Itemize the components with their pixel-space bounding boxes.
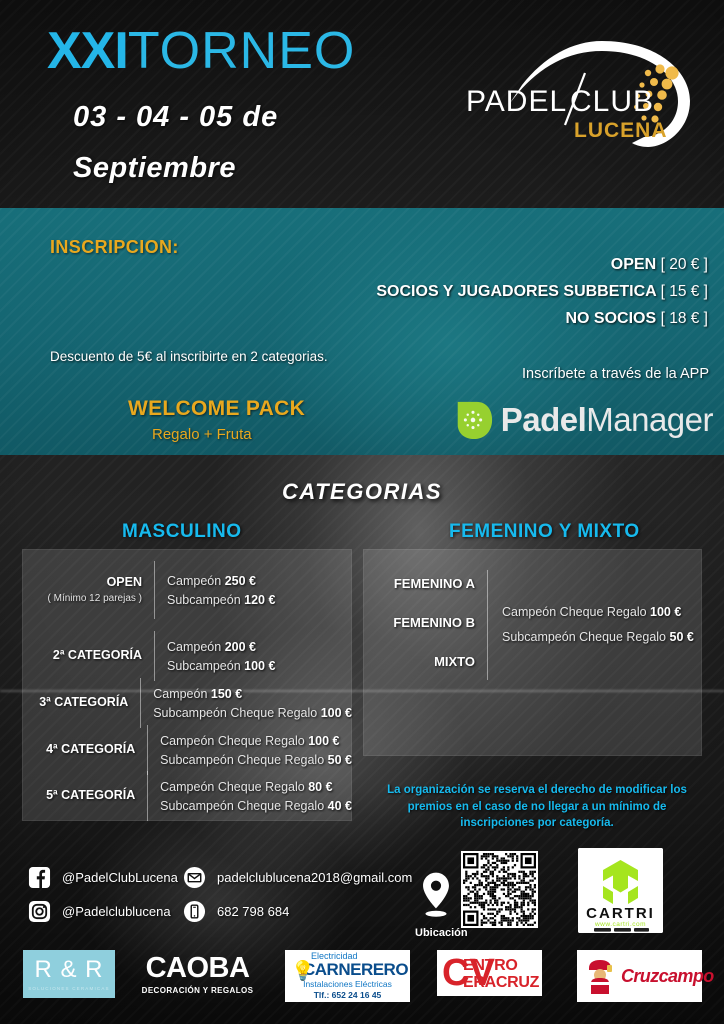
- poster-header: XXITORNEO 03 - 04 - 05 de Septiembre PAD…: [0, 0, 724, 208]
- prize-value: 40 €: [328, 799, 352, 813]
- price-row-open: OPEN [ 20 € ]: [376, 256, 708, 274]
- prize-line: Campeón 250 €: [167, 574, 352, 588]
- event-dates: 03 - 04 - 05 de: [73, 101, 278, 134]
- padelmanager-logo[interactable]: PadelManager: [452, 398, 713, 442]
- prize-line: Campeón 150 €: [153, 687, 352, 701]
- sponsor-caoba-tagline: DECORACIÓN Y REGALOS: [142, 986, 254, 995]
- prize-label: Subcampeón Cheque Regalo: [153, 706, 317, 720]
- cruzcampo-mascot-icon: [583, 956, 617, 996]
- masculino-category-label: 3ª CATEGORÍA: [22, 695, 140, 711]
- prize-label: Subcampeón: [167, 659, 241, 673]
- table-row: 3ª CATEGORÍA Campeón 150 € Subcampeón Ch…: [22, 678, 352, 728]
- qr-code[interactable]: [461, 851, 538, 928]
- sponsor-centro-veracruz[interactable]: CV ENTRO ERACRUZ: [437, 950, 542, 996]
- prize-value: 100 €: [321, 706, 352, 720]
- padelmanager-wordmark: PadelManager: [501, 401, 713, 439]
- sponsor-ryr-name: R & R: [34, 958, 103, 982]
- location-pin-icon: [415, 906, 457, 923]
- sponsor-caoba[interactable]: CAOBA DECORACIÓN Y REGALOS: [140, 950, 255, 998]
- femenino-prize-group: Campeón Cheque Regalo 100 € Subcampeón C…: [488, 560, 702, 693]
- category-note: ( Mínimo 12 parejas ): [22, 593, 142, 606]
- phone-number: 682 798 684: [217, 904, 289, 919]
- location-block[interactable]: Ubicación: [415, 870, 457, 939]
- prize-label: Subcampeón: [167, 593, 241, 607]
- lightbulb-icon: 💡: [291, 959, 315, 983]
- location-label: Ubicación: [415, 927, 457, 939]
- sponsor-carnerero-name: CARNERERO: [303, 961, 408, 979]
- prize-value: 80 €: [308, 780, 332, 794]
- masculino-category-label: 4ª CATEGORÍA: [22, 742, 147, 758]
- list-item: FEMENINO A: [363, 576, 487, 591]
- prize-line: Subcampeón Cheque Regalo 50 €: [160, 753, 352, 767]
- category-name: 2ª CATEGORÍA: [53, 648, 142, 662]
- prize-group: Campeón Cheque Regalo 80 € Subcampeón Ch…: [148, 775, 352, 818]
- instagram-handle: @Padelclublucena: [62, 904, 171, 919]
- prize-label: Campeón Cheque Regalo: [160, 734, 305, 748]
- email-icon: [183, 866, 206, 889]
- sponsor-carnerero-line3: Instalaciones Eléctricas: [303, 979, 392, 990]
- prize-label: Subcampeón Cheque Regalo: [160, 799, 324, 813]
- categories-title: CATEGORIAS: [0, 479, 724, 505]
- femenino-table: FEMENINO A FEMENINO B MIXTO Campeón Cheq…: [363, 560, 702, 693]
- svg-text:PADEL: PADEL: [466, 85, 567, 118]
- prize-value: 200 €: [225, 640, 256, 654]
- prize-value: 100 €: [308, 734, 339, 748]
- masculino-category-label: OPEN ( Mínimo 12 parejas ): [22, 575, 154, 605]
- welcome-pack-subtitle: Regalo + Fruta: [152, 426, 252, 443]
- price-row-socios: SOCIOS Y JUGADORES SUBBETICA [ 15 € ]: [376, 283, 708, 301]
- prize-value: 50 €: [670, 630, 694, 644]
- sponsor-ryr[interactable]: R & R SOLUCIONES CERAMICAS: [23, 950, 115, 998]
- title-edition: XXI: [47, 22, 128, 80]
- prize-value: 50 €: [328, 753, 352, 767]
- svg-text:CARTRI: CARTRI: [586, 905, 655, 922]
- price-list: OPEN [ 20 € ] SOCIOS Y JUGADORES SUBBETI…: [376, 256, 708, 337]
- svg-text:www.cartri.com: www.cartri.com: [594, 921, 646, 928]
- contact-facebook[interactable]: @PadelClubLucena: [28, 866, 178, 889]
- prize-line: Campeón Cheque Regalo 80 €: [160, 780, 352, 794]
- svg-text:LUCENA: LUCENA: [574, 119, 668, 142]
- prize-label: Subcampeón Cheque Regalo: [160, 753, 324, 767]
- sponsor-strip: R & R SOLUCIONES CERAMICAS CAOBA DECORAC…: [0, 944, 724, 1024]
- cartri-sponsor-logo[interactable]: CARTRI www.cartri.com: [578, 848, 663, 933]
- app-signup-note: Inscríbete a través de la APP: [522, 366, 709, 382]
- prize-line: Subcampeón Cheque Regalo 40 €: [160, 799, 352, 813]
- prize-group: Campeón 250 € Subcampeón 120 €: [155, 569, 352, 612]
- facebook-handle: @PadelClubLucena: [62, 870, 178, 885]
- padelmanager-word-light: Manager: [586, 401, 713, 438]
- prize-label: Campeón Cheque Regalo: [502, 605, 647, 619]
- instagram-icon: [28, 900, 51, 923]
- page-title: XXITORNEO: [47, 25, 355, 77]
- prize-line: Subcampeón Cheque Regalo 100 €: [153, 706, 352, 720]
- price-name-no-socios: NO SOCIOS: [565, 310, 656, 327]
- contact-phone[interactable]: 682 798 684: [183, 900, 289, 923]
- prize-label: Campeón: [167, 640, 221, 654]
- prize-value: 100 €: [244, 659, 275, 673]
- prize-value: 250 €: [225, 574, 256, 588]
- price-amount-open: [ 20 € ]: [661, 256, 708, 273]
- inscription-heading: INSCRIPCION:: [50, 237, 179, 258]
- list-item: FEMENINO B: [363, 615, 487, 630]
- sponsor-cruzcampo[interactable]: Cruzcampo: [577, 950, 702, 1002]
- category-name: 4ª CATEGORÍA: [46, 742, 135, 756]
- prize-value: 120 €: [244, 593, 275, 607]
- prize-label: Campeón: [167, 574, 221, 588]
- table-row: 2ª CATEGORÍA Campeón 200 € Subcampeón 10…: [22, 631, 352, 681]
- sponsor-carnerero-phone: Tlf.: 652 24 16 45: [314, 990, 382, 1000]
- price-amount-socios: [ 15 € ]: [661, 283, 708, 300]
- prize-value: 150 €: [211, 687, 242, 701]
- category-name: 3ª CATEGORÍA: [39, 695, 128, 709]
- sponsor-cruzcampo-name: Cruzcampo: [621, 966, 714, 987]
- sponsor-veracruz-line1: ENTRO: [463, 957, 518, 975]
- event-month: Septiembre: [73, 152, 236, 185]
- price-name-socios: SOCIOS Y JUGADORES SUBBETICA: [376, 283, 656, 300]
- prize-line: Subcampeón 120 €: [167, 593, 352, 607]
- masculino-category-label: 2ª CATEGORÍA: [22, 648, 154, 664]
- prize-line: Campeón Cheque Regalo 100 €: [160, 734, 352, 748]
- category-name: OPEN: [107, 575, 142, 589]
- sponsor-veracruz-line2: ERACRUZ: [463, 974, 539, 992]
- list-item: MIXTO: [363, 654, 487, 669]
- table-row: 4ª CATEGORÍA Campeón Cheque Regalo 100 €…: [22, 725, 352, 775]
- prize-label: Subcampeón Cheque Regalo: [502, 630, 666, 644]
- table-row: OPEN ( Mínimo 12 parejas ) Campeón 250 €…: [22, 561, 352, 619]
- prize-line: Campeón 200 €: [167, 640, 352, 654]
- prize-line: Subcampeón Cheque Regalo 50 €: [502, 630, 702, 644]
- prize-label: Campeón Cheque Regalo: [160, 780, 305, 794]
- phone-icon: [183, 900, 206, 923]
- price-amount-no-socios: [ 18 € ]: [661, 310, 708, 327]
- price-row-no-socios: NO SOCIOS [ 18 € ]: [376, 310, 708, 328]
- femenino-category-list: FEMENINO A FEMENINO B MIXTO: [363, 560, 487, 693]
- contact-instagram[interactable]: @Padelclublucena: [28, 900, 171, 923]
- sponsor-caoba-name: CAOBA: [146, 954, 250, 983]
- prize-label: Campeón: [153, 687, 207, 701]
- sponsor-ryr-tagline: SOLUCIONES CERAMICAS: [28, 986, 110, 991]
- table-row: 5ª CATEGORÍA Campeón Cheque Regalo 80 € …: [22, 771, 352, 821]
- prize-group: Campeón Cheque Regalo 100 € Subcampeón C…: [148, 729, 352, 772]
- padel-club-lucena-logo: PADEL CLUB LUCENA: [452, 33, 702, 153]
- masculino-heading: MASCULINO: [122, 521, 242, 543]
- inscription-band: INSCRIPCION: OPEN [ 20 € ] SOCIOS Y JUGA…: [0, 208, 724, 455]
- category-name: 5ª CATEGORÍA: [46, 788, 135, 802]
- padelmanager-mark-icon: [452, 398, 494, 442]
- facebook-icon: [28, 866, 51, 889]
- masculino-category-label: 5ª CATEGORÍA: [22, 788, 147, 804]
- poster-root: XXITORNEO 03 - 04 - 05 de Septiembre PAD…: [0, 0, 724, 1024]
- femenino-heading: FEMENINO Y MIXTO: [449, 521, 640, 543]
- prize-group: Campeón 200 € Subcampeón 100 €: [155, 635, 352, 678]
- prize-value: 100 €: [650, 605, 681, 619]
- price-name-open: OPEN: [611, 256, 656, 273]
- email-address: padelclublucena2018@gmail.com: [217, 870, 412, 885]
- contact-email[interactable]: padelclublucena2018@gmail.com: [183, 866, 412, 889]
- welcome-pack-title: WELCOME PACK: [128, 397, 305, 421]
- padelmanager-word-bold: Padel: [501, 401, 587, 438]
- title-event-word: TORNEO: [128, 22, 356, 80]
- sponsor-carnerero[interactable]: 💡 Electricidad CARNERERO Instalaciones E…: [285, 950, 410, 1002]
- prize-disclaimer: La organización se reserva el derecho de…: [372, 782, 702, 832]
- discount-note: Descuento de 5€ al inscribirte en 2 cate…: [50, 349, 328, 364]
- svg-text:CLUB: CLUB: [570, 85, 654, 118]
- prize-line: Campeón Cheque Regalo 100 €: [502, 605, 702, 619]
- prize-group: Campeón 150 € Subcampeón Cheque Regalo 1…: [141, 682, 352, 725]
- prize-line: Subcampeón 100 €: [167, 659, 352, 673]
